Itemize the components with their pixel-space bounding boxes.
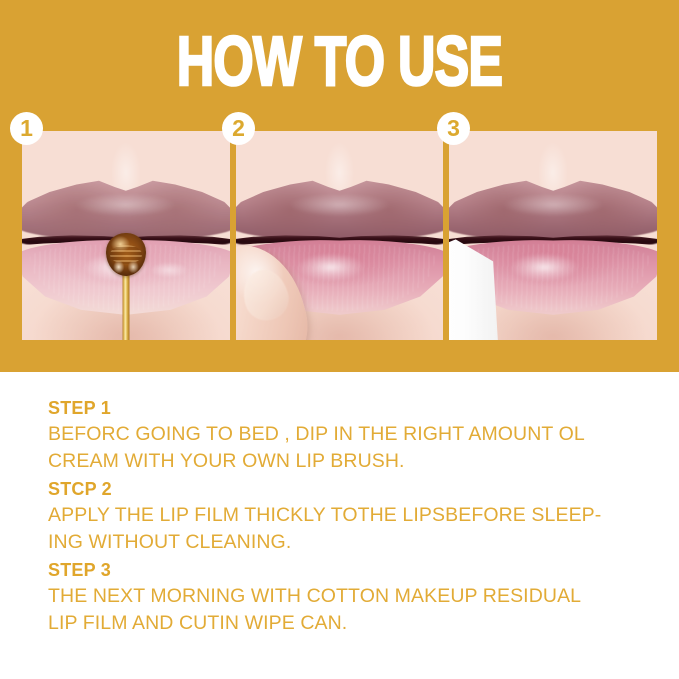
lower-lip-gloss [290, 252, 381, 285]
step-body-2: APPLY THE LIP FILM THICKLY TOTHE LIPSBEF… [48, 502, 648, 556]
upper-lip-sheen [269, 194, 410, 221]
lower-lip-gloss [503, 252, 594, 285]
step-heading-3: STEP 3 [48, 558, 648, 583]
step-body-1: BEFORC GOING TO BED , DIP IN THE RIGHT A… [48, 421, 648, 475]
step-block-3: STEP 3 THE NEXT MORNING WITH COTTON MAKE… [48, 558, 648, 637]
how-to-use-infographic: HOW TO USE [0, 0, 679, 679]
step-image-panel-2 [236, 131, 444, 340]
philtrum-highlight [532, 131, 574, 194]
upper-lip-sheen [55, 194, 196, 221]
step-badge-1: 1 [10, 112, 43, 145]
step-badge-2: 2 [222, 112, 255, 145]
step-block-2: STCP 2 APPLY THE LIP FILM THICKLY TOTHE … [48, 477, 648, 556]
philtrum-highlight [105, 131, 147, 194]
step-heading-1: STEP 1 [48, 396, 648, 421]
step-badge-3: 3 [437, 112, 470, 145]
step-heading-2: STCP 2 [48, 477, 648, 502]
lower-lip-gloss-secondary [142, 261, 196, 282]
step-image-panel-3 [449, 131, 657, 340]
lips-photo-3 [449, 131, 657, 340]
steps-text-block: STEP 1 BEFORC GOING TO BED , DIP IN THE … [48, 396, 648, 639]
lips-photo-1 [22, 131, 230, 340]
step-body-3: THE NEXT MORNING WITH COTTON MAKEUP RESI… [48, 583, 648, 637]
step-block-1: STEP 1 BEFORC GOING TO BED , DIP IN THE … [48, 396, 648, 475]
upper-lip-sheen [483, 194, 624, 221]
lips-photo-2 [236, 131, 444, 340]
step-image-strip [22, 131, 657, 340]
philtrum-highlight [319, 131, 361, 194]
fingernail [237, 264, 294, 326]
step-image-panel-1 [22, 131, 230, 340]
page-title: HOW TO USE [88, 26, 590, 96]
